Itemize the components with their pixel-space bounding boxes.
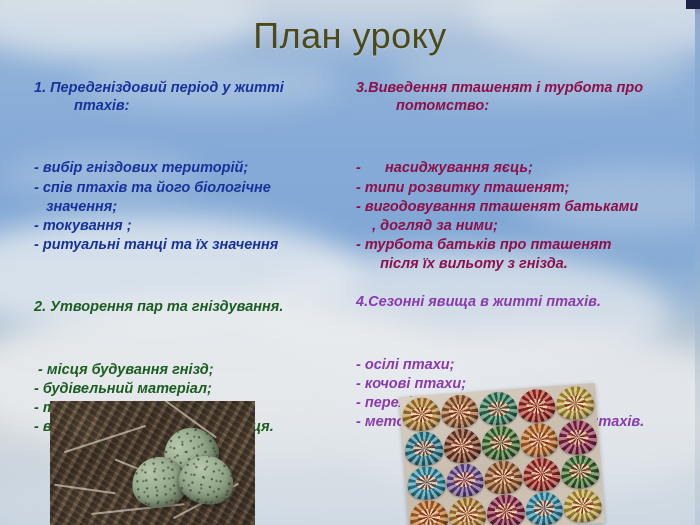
pysanka-egg xyxy=(563,488,603,524)
list-item: - місця будування гнізд; xyxy=(34,361,346,379)
outline-heading: 1. Передгніздовий період у житті птахів: xyxy=(34,80,346,115)
list-item: - будівельний матеріал; xyxy=(34,380,346,398)
list-item: після їх вильоту з гнізда. xyxy=(356,255,686,273)
pysanka-egg xyxy=(404,431,444,467)
pysanka-egg xyxy=(483,459,523,495)
spacer xyxy=(356,121,686,159)
outline-heading-line1: 2. Утворення пар та гніздування. xyxy=(34,299,283,315)
pysanka-egg xyxy=(560,453,600,489)
top-right-corner-mark xyxy=(686,0,700,9)
outline-item-list: - насиджування яєць; - типи розвитку пта… xyxy=(356,159,686,273)
list-item: - вигодовування пташенят батьками xyxy=(356,198,686,216)
pysanka-egg xyxy=(440,394,480,430)
pysanka-egg xyxy=(486,493,526,525)
outline-heading: 3.Виведення пташенят і турбота про потом… xyxy=(356,80,686,115)
pysanka-egg xyxy=(409,499,449,525)
pysanka-egg xyxy=(517,388,557,424)
bird-nest-with-eggs-photo xyxy=(50,401,255,525)
outline-heading: 2. Утворення пар та гніздування. xyxy=(34,299,346,317)
slide-canvas: План уроку 1. Передгніздовий період у жи… xyxy=(0,0,700,525)
list-item: - ритуальні танці та їх значення xyxy=(34,236,346,254)
outline-heading-line2: потомство: xyxy=(356,98,686,116)
pysanka-egg xyxy=(519,422,559,458)
list-item: - вибір гніздових територій; xyxy=(34,159,346,177)
list-item: - типи розвитку пташенят; xyxy=(356,179,686,197)
spacer xyxy=(34,121,346,159)
right-edge-strip xyxy=(695,0,700,525)
list-item: , догляд за ними; xyxy=(356,217,686,235)
pysanka-egg xyxy=(445,462,485,498)
outline-heading: 4.Сезонні явища в житті птахів. xyxy=(356,294,686,312)
outline-heading-line1: 3.Виведення пташенят і турбота про xyxy=(356,80,643,96)
list-item: - токування ; xyxy=(34,217,346,235)
pysanka-egg xyxy=(555,385,595,421)
outline-heading-line1: 1. Передгніздовий період у житті xyxy=(34,80,284,96)
left-content-column: 1. Передгніздовий період у житті птахів:… xyxy=(34,80,346,437)
spacer xyxy=(356,274,686,294)
outline-heading-line1: 4.Сезонні явища в житті птахів. xyxy=(356,294,601,310)
spacer xyxy=(34,323,346,361)
list-item: - спів птахів та його біологічне xyxy=(34,179,346,197)
pysanka-egg xyxy=(558,419,598,455)
pysanka-egg xyxy=(478,391,518,427)
pysanka-egg xyxy=(481,425,521,461)
list-item: - осілі птахи; xyxy=(356,356,686,374)
list-item: - насиджування яєць; xyxy=(356,159,686,177)
spacer xyxy=(356,318,686,356)
outline-heading-line2: птахів: xyxy=(34,98,346,116)
outline-block-3: 3.Виведення пташенят і турбота про потом… xyxy=(356,80,686,273)
pysanky-grid xyxy=(399,383,605,525)
page-title: План уроку xyxy=(0,16,700,56)
spacer xyxy=(34,255,346,299)
right-content-column: 3.Виведення пташенят і турбота про потом… xyxy=(356,80,686,432)
pysanky-decorated-eggs-photo xyxy=(399,383,605,525)
outline-block-1: 1. Передгніздовий період у житті птахів:… xyxy=(34,80,346,254)
pysanka-egg xyxy=(442,428,482,464)
outline-item-list: - вибір гніздових територій; - спів птах… xyxy=(34,159,346,254)
list-item: значення; xyxy=(34,198,346,216)
pysanka-egg xyxy=(447,496,487,525)
pysanka-egg xyxy=(401,396,441,432)
pysanka-egg xyxy=(524,490,564,525)
list-item: - турбота батьків про пташенят xyxy=(356,236,686,254)
pysanka-egg xyxy=(406,465,446,501)
pysanka-egg xyxy=(522,456,562,492)
